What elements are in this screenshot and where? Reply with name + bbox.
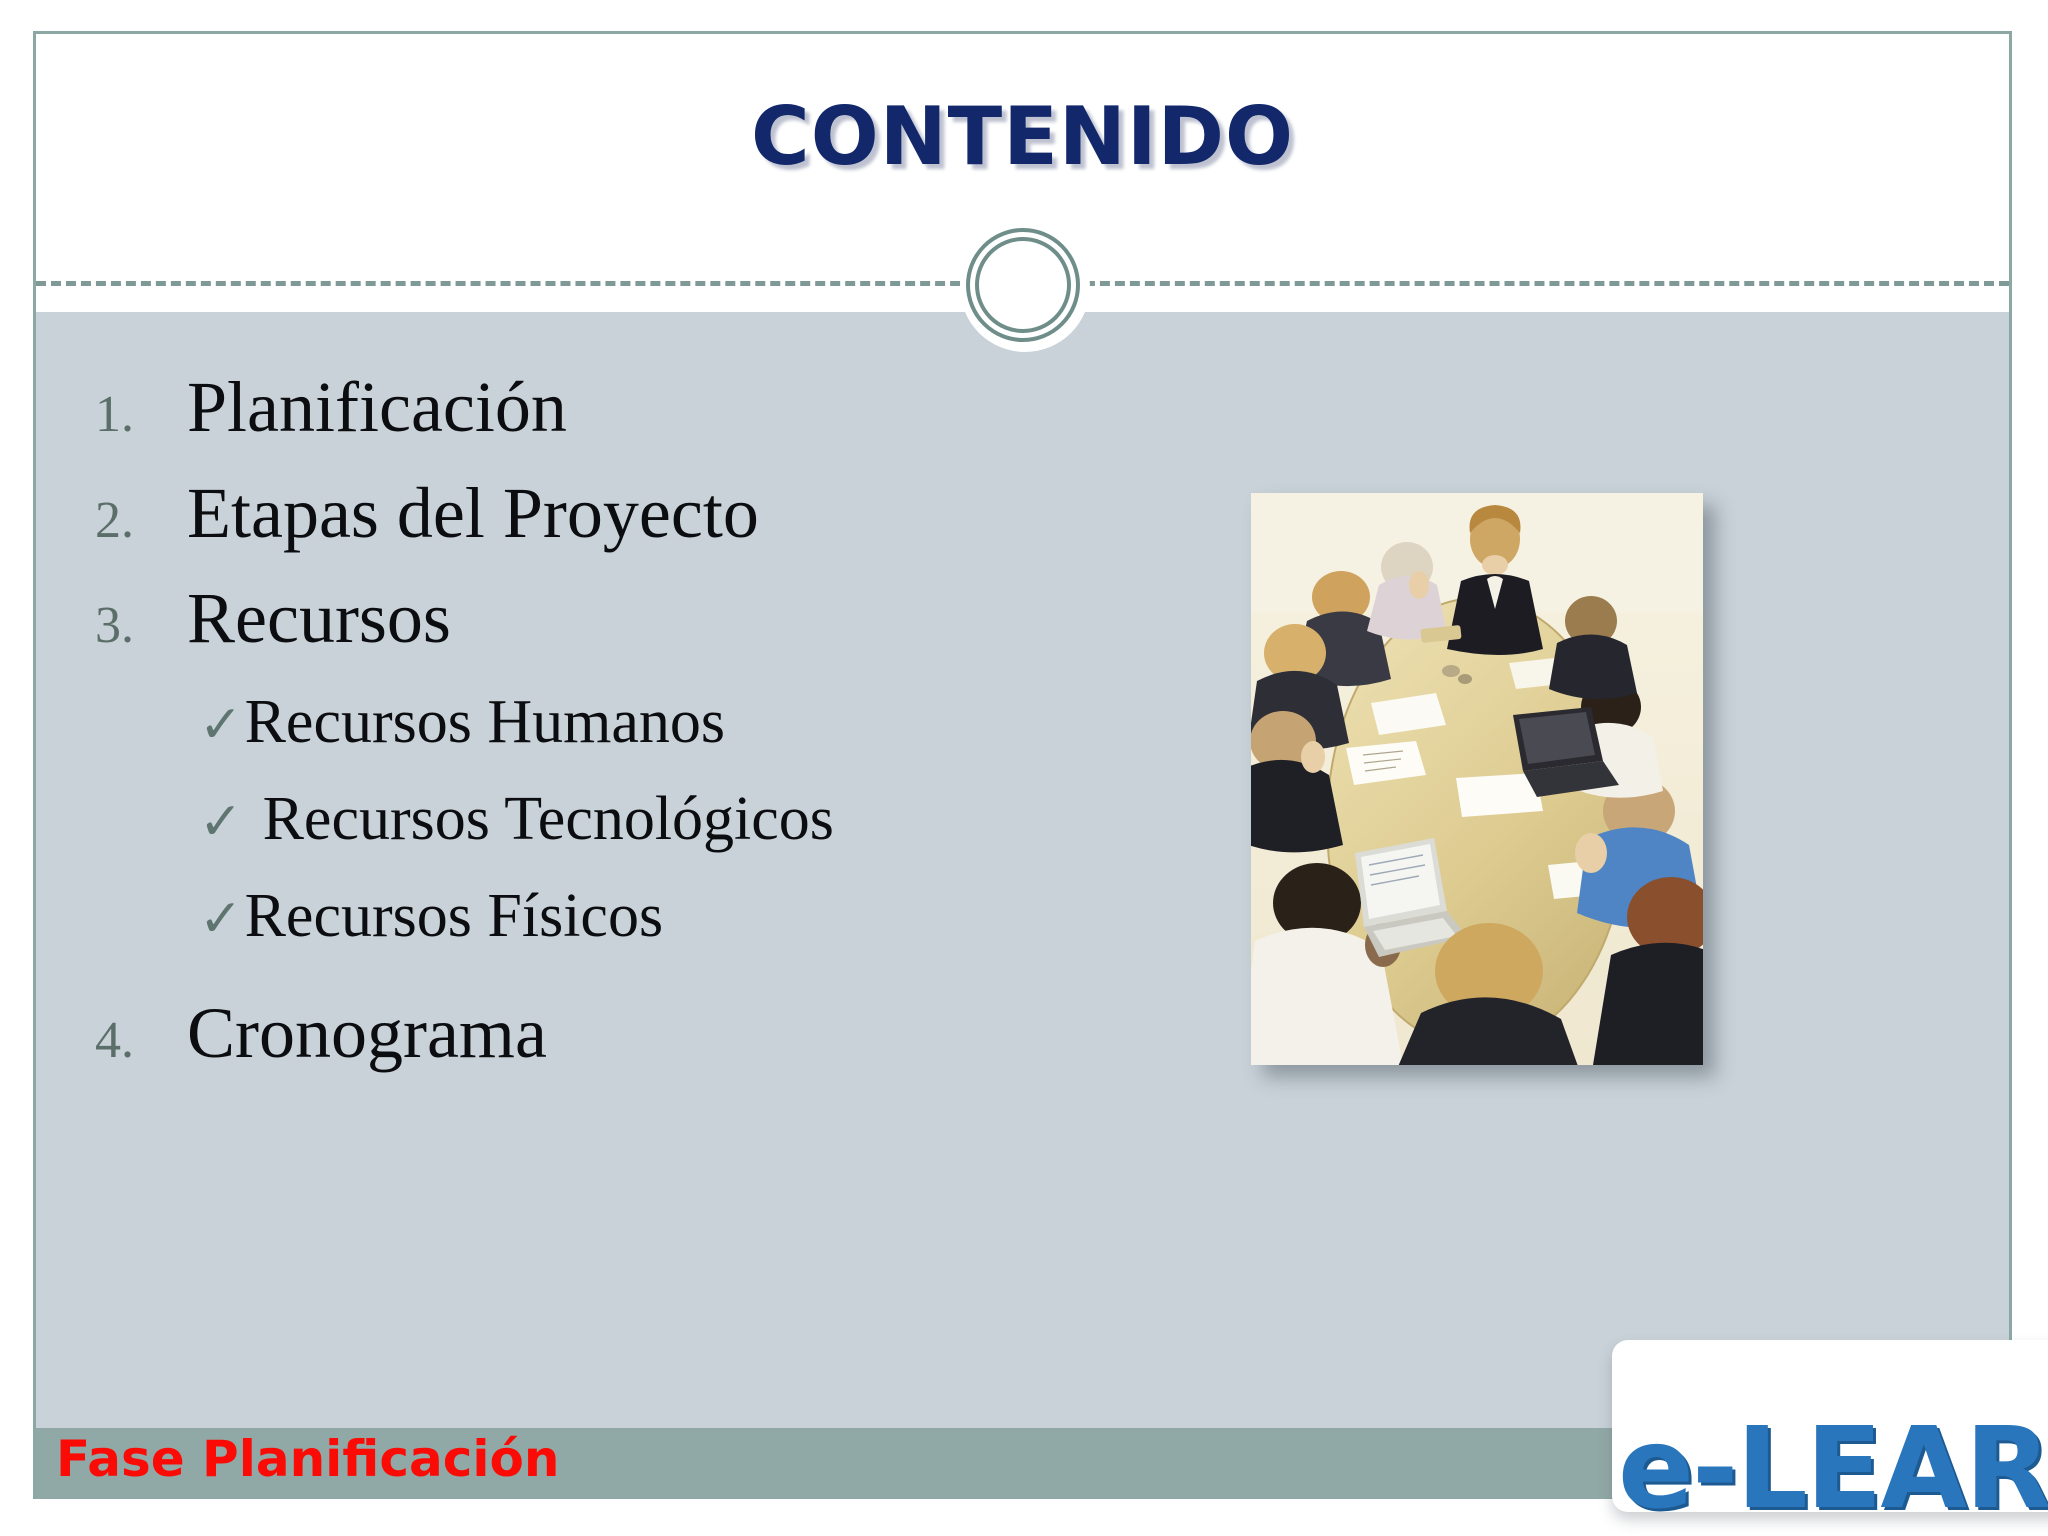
list-item: 4. Cronograma xyxy=(95,996,1175,1072)
list-item-label: Planificación xyxy=(187,370,567,446)
check-icon: ✓ xyxy=(199,796,243,848)
presentation-slide: CONTENIDO 1. Planificación 2. Etapas del… xyxy=(0,0,2048,1536)
meeting-photo xyxy=(1251,493,1703,1065)
sub-list-item-label: Recursos Tecnológicos xyxy=(263,784,834,855)
list-item-number: 4. xyxy=(95,1011,187,1070)
list-item: 2. Etapas del Proyecto xyxy=(95,476,1175,552)
page-title: CONTENIDO xyxy=(36,90,2009,183)
sub-list-item: ✓ Recursos Humanos xyxy=(95,687,1175,758)
sub-list-item: ✓ Recursos Físicos xyxy=(95,881,1175,952)
list-item-label: Recursos xyxy=(187,581,451,657)
sub-list-item: ✓ Recursos Tecnológicos xyxy=(95,784,1175,855)
list-item-label: Etapas del Proyecto xyxy=(187,476,759,552)
footer-label: Fase Planificación xyxy=(56,1430,559,1488)
sub-list-item-label: Recursos Físicos xyxy=(245,881,664,952)
list-item: 3. Recursos xyxy=(95,581,1175,657)
sub-list-item-label: Recursos Humanos xyxy=(245,687,725,758)
list-item-number: 3. xyxy=(95,596,187,655)
list-item: 1. Planificación xyxy=(95,370,1175,446)
check-icon: ✓ xyxy=(199,893,243,945)
list-item-number: 1. xyxy=(95,385,187,444)
check-icon: ✓ xyxy=(199,699,243,751)
circle-decoration-icon xyxy=(960,222,1090,352)
organization-logo: e-LEAR xyxy=(1612,1340,2048,1512)
logo-text: e-LEAR xyxy=(1618,1404,2048,1512)
list-item-number: 2. xyxy=(95,491,187,550)
outline-list: 1. Planificación 2. Etapas del Proyecto … xyxy=(95,370,1175,1101)
list-item-label: Cronograma xyxy=(187,996,547,1072)
